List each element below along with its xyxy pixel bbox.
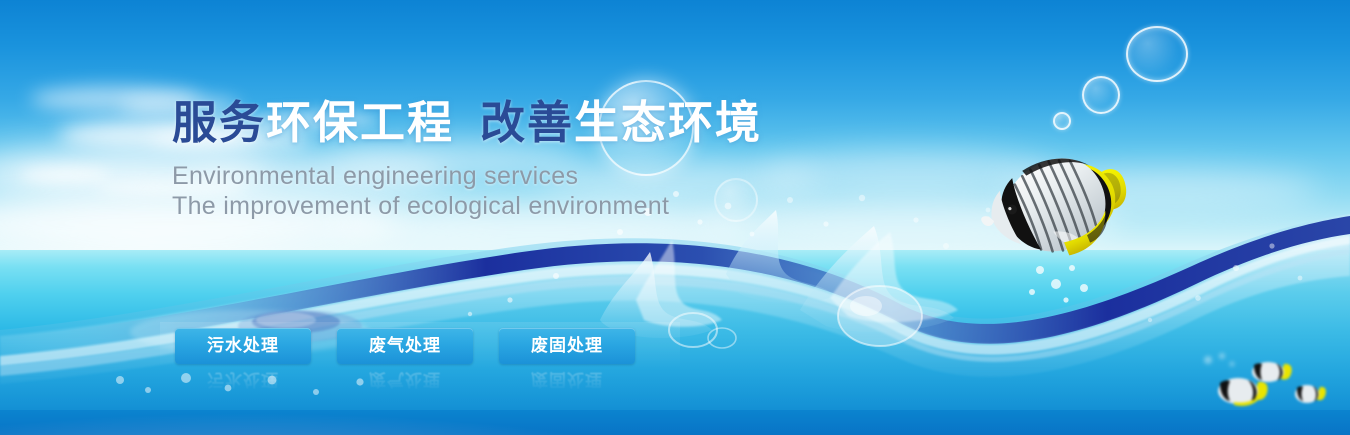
butterflyfish-main [978, 136, 1138, 276]
page-title: 服务环保工程改善生态环境 [172, 100, 762, 145]
sky-bubble-large [1126, 26, 1188, 82]
headline-part2-dark: 改善 [480, 96, 574, 149]
headline-part1-dark: 服务 [172, 96, 266, 149]
button-waste-gas-treatment[interactable]: 废气处理 [337, 328, 473, 364]
sky-bubble-medium [1082, 76, 1120, 114]
butterflyfish-school-3 [1292, 382, 1328, 406]
subtitle-line-1: Environmental engineering services [172, 162, 578, 191]
button-reflection-solid-waste: 废固处理 [499, 366, 635, 392]
school-bubbles [1200, 352, 1240, 378]
headline-part1-light: 环保工程 [266, 96, 454, 149]
headline-part2-light: 生态环境 [574, 96, 762, 149]
button-reflection-wastewater: 污水处理 [175, 366, 311, 392]
button-solid-waste-treatment[interactable]: 废固处理 [499, 328, 635, 364]
button-wastewater-treatment[interactable]: 污水处理 [175, 328, 311, 364]
subtitle-line-2: The improvement of ecological environmen… [172, 192, 669, 221]
butterflyfish-school-2 [1248, 358, 1294, 386]
button-reflection-waste-gas: 废气处理 [337, 366, 473, 392]
fish-splash-droplets [1020, 258, 1110, 308]
sky-bubble-small [1053, 112, 1071, 130]
hero-banner: 服务环保工程改善生态环境 Environmental engineering s… [0, 0, 1350, 435]
